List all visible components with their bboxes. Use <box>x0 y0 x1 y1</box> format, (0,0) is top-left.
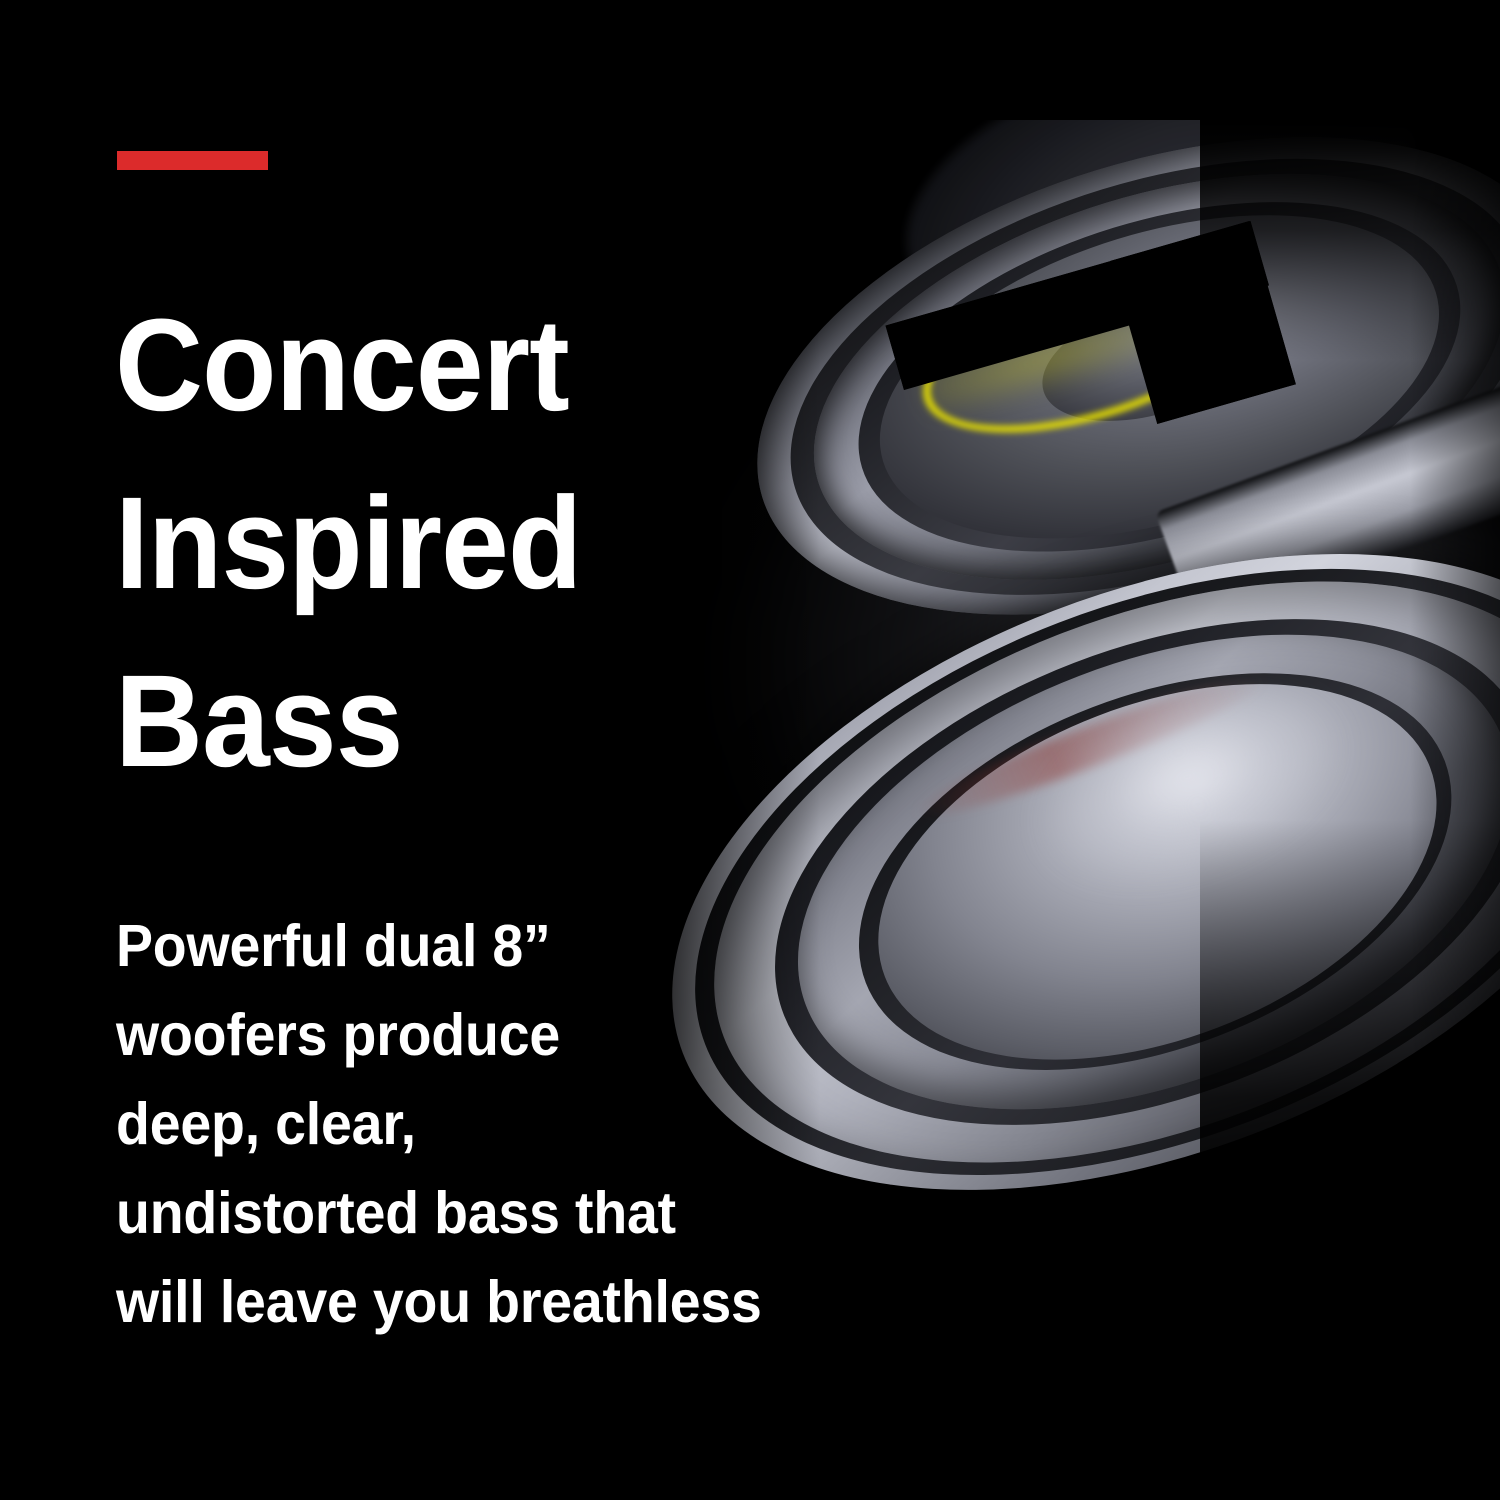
red-accent-rule <box>117 151 268 170</box>
page-title: Concert Inspired Bass <box>115 276 692 810</box>
body-copy: Powerful dual 8” woofers produce deep, c… <box>116 902 868 1347</box>
right-edge-vignette <box>1410 0 1500 1500</box>
feature-card: Concert Inspired Bass Powerful dual 8” w… <box>0 0 1500 1500</box>
